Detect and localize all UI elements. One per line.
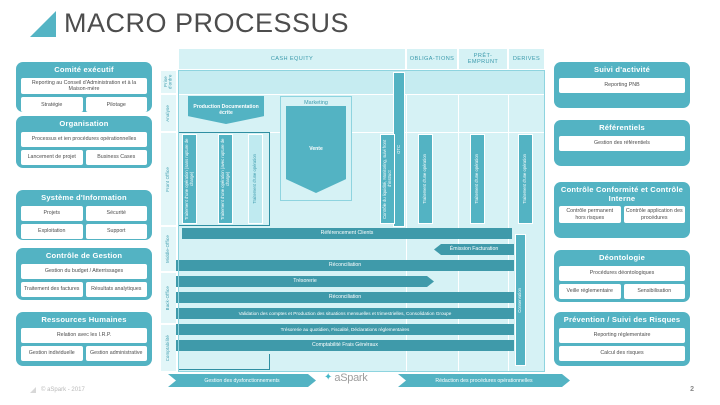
aspark-logo-text: aSpark <box>334 372 367 384</box>
page-title: MACRO PROCESSUS <box>30 8 349 39</box>
swimlane-comptabilite: Comptabilité <box>160 324 177 372</box>
panel-title: Prévention / Suivi des Risques <box>559 316 685 325</box>
header-cash-equity: CASH EQUITY <box>178 48 406 70</box>
panel-cell[interactable]: Exploitation <box>21 224 83 239</box>
swimlane-prise-ordre: Prise d'ordre <box>160 70 177 94</box>
swimlane-back-office: Back-Office <box>160 272 177 324</box>
left-panel-1[interactable]: OrganisationProcessus et ien procédures … <box>16 116 152 168</box>
panel-cell[interactable]: Sensibilisation <box>624 284 686 299</box>
vcol-traitement-1[interactable]: Traitement d'une opération <box>248 134 263 224</box>
vcol-label: Traitement d'une opération (sans rupture… <box>185 135 195 223</box>
bar-label: Comptabilité Frais Généraux <box>312 343 378 349</box>
panel-cell[interactable]: Relation avec les I.R.P. <box>21 328 147 343</box>
block-label: Marketing <box>304 100 328 106</box>
vcol-label: Traitement d'une opération (avec rupture… <box>221 135 231 223</box>
panel-cell-row: StratégiePilotage <box>21 97 147 115</box>
band-prise-ordre <box>178 70 545 94</box>
bottom-group-frame <box>178 354 270 370</box>
title-text: MACRO PROCESSUS <box>64 8 349 39</box>
panel-cell[interactable]: Veille réglementaire <box>559 284 621 299</box>
right-panel-3[interactable]: DéontologieProcédures déontologiquesVeil… <box>554 250 690 302</box>
panel-cell-row: ExploitationSupport <box>21 224 147 242</box>
bottom-arrow-redaction-procedures[interactable]: Rédaction des procédures opérationnelles <box>398 374 570 387</box>
vcol-label: Traitement d'une opération <box>253 154 258 204</box>
panel-cell[interactable]: Processus et ien procédures opérationnel… <box>21 132 147 147</box>
swimlane-label: Back-Office <box>166 286 171 310</box>
swimlane-label: Prise d'ordre <box>164 71 173 93</box>
otc-label: OTC <box>397 145 402 154</box>
left-panel-2[interactable]: Système d'InformationProjetsSécuritéExpl… <box>16 190 152 240</box>
board-column-headers: CASH EQUITY OBLIGA-TIONS PRÊT-EMPRUNT DE… <box>178 48 545 70</box>
panel-title: Référentiels <box>559 124 685 133</box>
vcol-label: Traitement d'une opération <box>423 154 428 204</box>
vcol-traitement-4[interactable]: Traitement d'une opération <box>518 134 533 224</box>
bar-reconciliation-2[interactable]: Réconciliation <box>176 292 514 303</box>
vcol-traitement-3[interactable]: Traitement d'une opération <box>470 134 485 224</box>
vcol-controle-liquidite[interactable]: Contrôle du liquidité, Monitoring, suivi… <box>380 134 395 224</box>
panel-cell[interactable]: Reporting réglementaire <box>559 328 685 343</box>
aspark-logo: ✦ aSpark <box>324 372 367 384</box>
bottom-arrow-label: Rédaction des procédures opérationnelles <box>435 378 532 384</box>
swimlane-label: Analyse <box>166 105 171 122</box>
swimlane-analyse: Analyse <box>160 94 177 132</box>
panel-title: Suivi d'activité <box>559 66 685 75</box>
conservation-label: Conservation <box>518 288 523 313</box>
right-panel-2[interactable]: Contrôle Conformité et Contrôle InterneC… <box>554 182 690 238</box>
header-pret-emprunt: PRÊT-EMPRUNT <box>458 48 508 70</box>
panel-cell[interactable]: Sécurité <box>86 206 148 221</box>
panel-cell-row: Veille réglementaireSensibilisation <box>559 284 685 302</box>
panel-cell[interactable]: Gestion du budget / Atterrissages <box>21 264 147 279</box>
bar-label: Émission Facturation <box>450 247 498 253</box>
grid-line <box>178 132 545 133</box>
bar-emission-facturation[interactable]: Émission Facturation <box>434 244 514 255</box>
panel-cell-row: Traitement des facturesRésultats analyti… <box>21 282 147 300</box>
header-obligations: OBLIGA-TIONS <box>406 48 458 70</box>
panel-cell[interactable]: Contrôle application des procédures <box>624 206 686 223</box>
right-panel-1[interactable]: RéférentielsGestion des référentiels <box>554 120 690 166</box>
process-board: CASH EQUITY OBLIGA-TIONS PRÊT-EMPRUNT DE… <box>160 48 545 373</box>
bar-label: Réconciliation <box>329 263 361 269</box>
vcol-traitement-2[interactable]: Traitement d'une opération <box>418 134 433 224</box>
bar-reconciliation-1[interactable]: Réconciliation <box>176 260 514 271</box>
bar-tresorerie[interactable]: Trésorerie <box>176 276 434 287</box>
panel-cell[interactable]: Gestion individuelle <box>21 346 83 361</box>
right-panel-4[interactable]: Prévention / Suivi des RisquesReporting … <box>554 312 690 366</box>
bar-label: Validation des comptes et Production des… <box>239 311 452 316</box>
header-derives: DERIVES <box>508 48 545 70</box>
panel-cell[interactable]: Reporting au Conseil d'Administration et… <box>21 78 147 95</box>
page-number: 2 <box>690 386 694 393</box>
star-icon: ✦ <box>324 373 332 383</box>
left-panel-4[interactable]: Ressources HumainesRelation avec les I.R… <box>16 312 152 366</box>
grid-line <box>178 94 545 95</box>
bar-referencement-clients[interactable]: Référencement Clients <box>182 228 512 239</box>
bottom-arrow-gestion-dysfonctionnements[interactable]: Gestion des dysfonctionnements <box>168 374 316 387</box>
swimlane-label: Front Office <box>166 167 171 192</box>
panel-cell[interactable]: Gestion administrative <box>86 346 148 361</box>
panel-cell-row: Lancement de projetBusiness Cases <box>21 150 147 168</box>
footer: © aSpark - 2017 <box>30 387 85 393</box>
panel-title: Contrôle Conformité et Contrôle Interne <box>559 186 685 203</box>
bar-tresorerie-quotidien[interactable]: Trésorerie au quotidien, Fiscalité, Décl… <box>176 324 514 335</box>
panel-title: Ressources Humaines <box>21 316 147 325</box>
panel-cell[interactable]: Reporting PNB <box>559 78 685 93</box>
panel-title: Comité exécutif <box>21 66 147 75</box>
vcol-label: Contrôle du liquidité, Monitoring, suivi… <box>383 135 393 223</box>
panel-cell[interactable]: Procédures déontologiques <box>559 266 685 281</box>
left-panel-3[interactable]: Contrôle de GestionGestion du budget / A… <box>16 248 152 300</box>
swimlane-middle-office: Middle-Office <box>160 226 177 272</box>
bar-label: Réconciliation <box>329 295 361 301</box>
panel-title: Déontologie <box>559 254 685 263</box>
panel-title: Contrôle de Gestion <box>21 252 147 261</box>
swimlane-front-office: Front Office <box>160 132 177 226</box>
swimlane-label: Comptabilité <box>166 335 171 361</box>
panel-cell[interactable]: Support <box>86 224 148 239</box>
footer-triangle-icon <box>30 387 36 393</box>
panel-title: Organisation <box>21 120 147 129</box>
block-vente[interactable]: Vente <box>286 106 346 193</box>
block-label: Production Documentation écrite <box>188 104 264 116</box>
block-label: Vente <box>309 146 323 152</box>
vcol-label: Traitement d'une opération <box>523 154 528 204</box>
panel-cell-row: Contrôle permanent hors risquesContrôle … <box>559 206 685 226</box>
panel-cell[interactable]: Stratégie <box>21 97 83 112</box>
panel-cell[interactable]: Résultats analytiques <box>86 282 148 297</box>
panel-cell-row: ProjetsSécurité <box>21 206 147 224</box>
vcol-traitement-sans-rupture[interactable]: Traitement d'une opération (sans rupture… <box>182 134 197 224</box>
bar-label: Trésorerie <box>293 279 316 285</box>
panel-cell[interactable]: Gestion des référentiels <box>559 136 685 151</box>
panel-cell[interactable]: Pilotage <box>86 97 148 112</box>
panel-cell-row: Gestion individuelleGestion administrati… <box>21 346 147 364</box>
bar-comptabilite-frais[interactable]: Comptabilité Frais Généraux <box>176 340 514 351</box>
bottom-arrow-label: Gestion des dysfonctionnements <box>204 378 279 384</box>
footer-copyright: © aSpark - 2017 <box>41 387 85 393</box>
slide-root: MACRO PROCESSUS Comité exécutifReporting… <box>0 0 720 405</box>
triangle-logo-icon <box>30 11 56 37</box>
bar-label: Trésorerie au quotidien, Fiscalité, Décl… <box>281 327 410 332</box>
panel-cell[interactable]: Calcul des risques <box>559 346 685 361</box>
swimlane-label: Middle-Office <box>166 235 171 263</box>
vcol-traitement-avec-rupture[interactable]: Traitement d'une opération (avec rupture… <box>218 134 233 224</box>
panel-cell[interactable]: Projets <box>21 206 83 221</box>
panel-cell[interactable]: Business Cases <box>86 150 148 165</box>
bar-label: Référencement Clients <box>321 231 374 237</box>
panel-cell[interactable]: Traitement des factures <box>21 282 83 297</box>
conservation-column[interactable]: Conservation <box>515 234 526 366</box>
bar-validation-comptes[interactable]: Validation des comptes et Production des… <box>176 308 514 319</box>
panel-title: Système d'Information <box>21 194 147 203</box>
panel-cell[interactable]: Lancement de projet <box>21 150 83 165</box>
left-panel-0[interactable]: Comité exécutifReporting au Conseil d'Ad… <box>16 62 152 112</box>
right-panel-0[interactable]: Suivi d'activitéReporting PNB <box>554 62 690 108</box>
vcol-label: Traitement d'une opération <box>475 154 480 204</box>
panel-cell[interactable]: Contrôle permanent hors risques <box>559 206 621 223</box>
